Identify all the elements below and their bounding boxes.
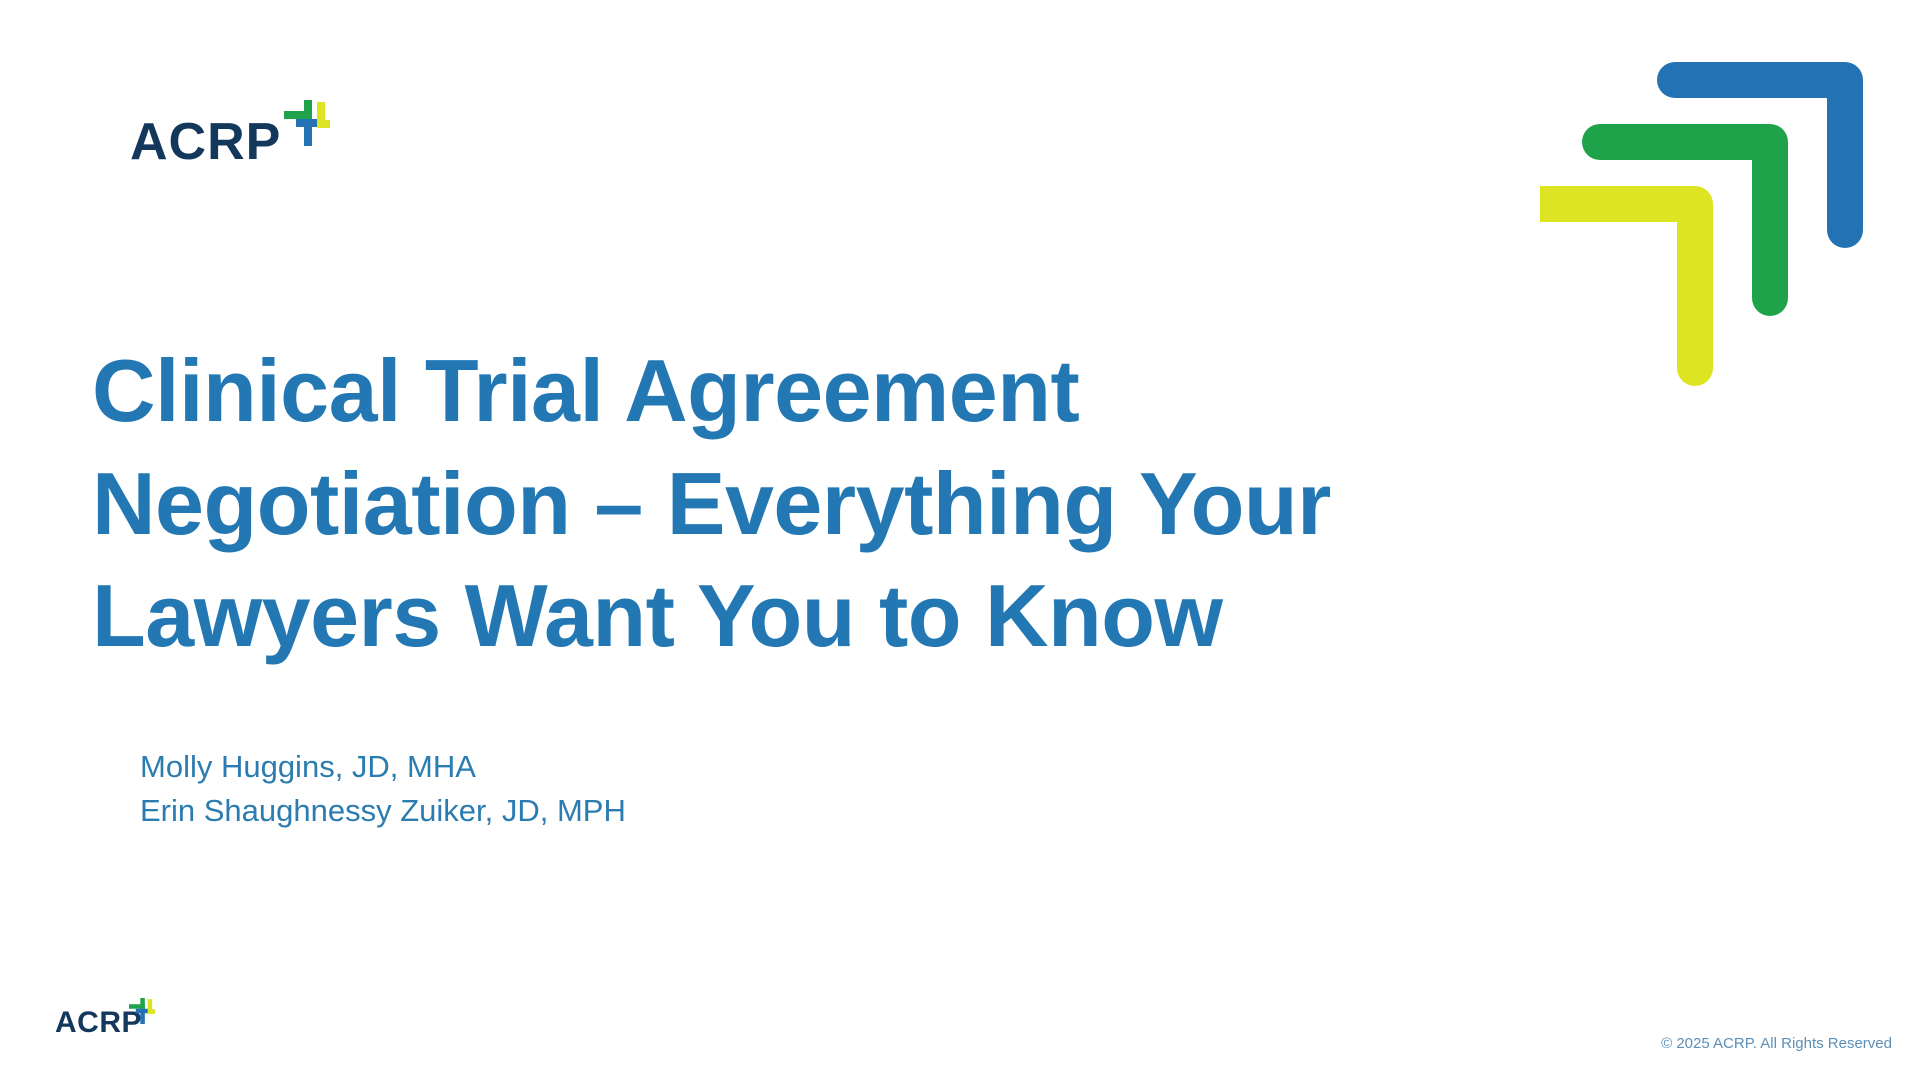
presenter-name-2: Erin Shaughnessy Zuiker, JD, MPH [140, 789, 626, 833]
acrp-cross-mark-icon [284, 100, 330, 146]
title-line-2: Negotiation – Everything Your [92, 448, 1712, 561]
acrp-logo-header: ACRP [130, 100, 330, 168]
slide-title: Clinical Trial Agreement Negotiation – E… [92, 335, 1712, 673]
title-line-1: Clinical Trial Agreement [92, 335, 1712, 448]
presenter-name-1: Molly Huggins, JD, MHA [140, 745, 626, 789]
acrp-cross-mark-icon-footer [129, 998, 155, 1024]
presenter-list: Molly Huggins, JD, MHA Erin Shaughnessy … [140, 745, 626, 833]
title-slide: ACRP Clinical Trial [0, 0, 1920, 1080]
copyright-notice: © 2025 ACRP. All Rights Reserved [1661, 1035, 1892, 1052]
acrp-wordmark: ACRP [130, 116, 281, 168]
title-line-3: Lawyers Want You to Know [92, 560, 1712, 673]
acrp-logo-footer: ACRP [55, 998, 155, 1038]
